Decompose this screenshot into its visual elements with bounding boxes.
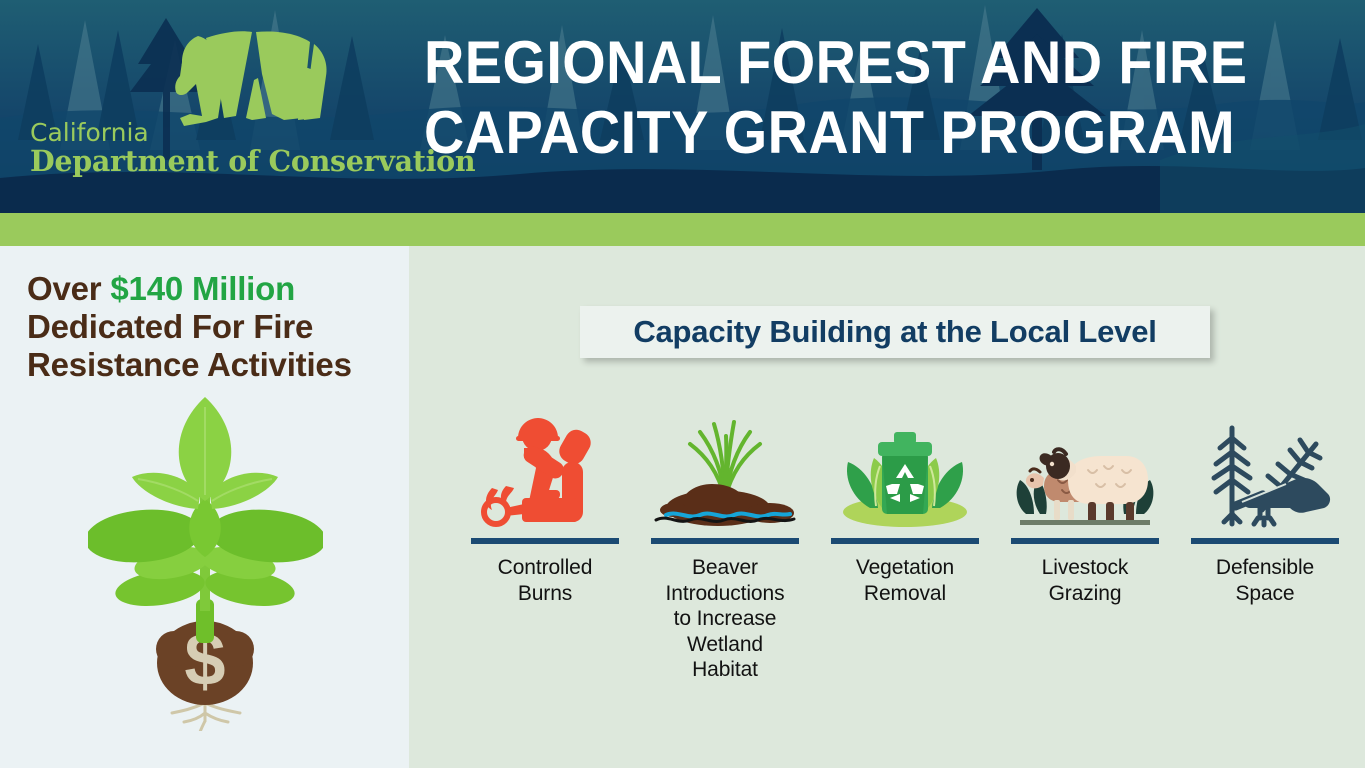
activity-label-line: Habitat	[666, 657, 785, 683]
activity-label-line: Burns	[498, 581, 593, 607]
activity-label-line: Beaver	[666, 555, 785, 581]
activity-card-livestock-grazing: Livestock Grazing	[995, 414, 1175, 606]
logo-department-label: Department of Conservation	[30, 145, 380, 178]
activity-rule	[1191, 538, 1339, 544]
funding-panel: Over $140 Million Dedicated For Fire Res…	[0, 246, 409, 768]
header-banner: California Department of Conservation RE…	[0, 0, 1365, 213]
activities-panel: Capacity Building at the Local Level	[409, 246, 1365, 768]
activity-label-line: to Increase	[666, 606, 785, 632]
funding-headline-line-3: Resistance Activities	[27, 346, 397, 384]
defensible-space-icon	[1190, 414, 1340, 532]
funding-amount: $140 Million	[110, 270, 295, 307]
activity-label: Controlled Burns	[498, 555, 593, 606]
funding-headline-line-2: Dedicated For Fire	[27, 308, 397, 346]
activity-label: Vegetation Removal	[856, 555, 954, 606]
section-banner: Capacity Building at the Local Level	[580, 306, 1210, 358]
activity-label-line: Vegetation	[856, 555, 954, 581]
controlled-burn-icon	[470, 414, 620, 532]
page-title-line-2: CAPACITY GRANT PROGRAM	[424, 98, 1242, 168]
activity-label-line: Wetland	[666, 632, 785, 658]
activity-card-beaver-introductions: Beaver Introductions to Increase Wetland…	[635, 414, 815, 683]
activity-rule	[831, 538, 979, 544]
activity-card-vegetation-removal: Vegetation Removal	[815, 414, 995, 606]
activity-label-line: Grazing	[1042, 581, 1129, 607]
activity-rule	[471, 538, 619, 544]
livestock-grazing-icon	[1010, 414, 1160, 532]
logo-state-label: California	[30, 120, 380, 145]
funding-headline-prefix: Over	[27, 270, 110, 307]
activity-label-line: Space	[1216, 581, 1314, 607]
activity-label-line: Defensible	[1216, 555, 1314, 581]
activity-label-line: Livestock	[1042, 555, 1129, 581]
activity-label: Defensible Space	[1216, 555, 1314, 606]
vegetation-removal-icon	[830, 414, 980, 532]
green-divider-bar	[0, 213, 1365, 246]
infographic-page: California Department of Conservation RE…	[0, 0, 1365, 768]
activity-card-controlled-burns: Controlled Burns	[455, 414, 635, 606]
page-title-line-1: REGIONAL FOREST AND FIRE	[424, 28, 1242, 98]
money-plant-icon: $	[88, 391, 323, 731]
activity-card-defensible-space: Defensible Space	[1175, 414, 1355, 606]
agency-logo: California Department of Conservation	[18, 10, 378, 200]
activity-rule	[1011, 538, 1159, 544]
activity-label-line: Controlled	[498, 555, 593, 581]
activity-label-line: Removal	[856, 581, 954, 607]
section-banner-title: Capacity Building at the Local Level	[633, 314, 1156, 350]
beaver-lodge-icon	[650, 414, 800, 532]
activity-label: Beaver Introductions to Increase Wetland…	[666, 555, 785, 683]
activity-rule	[651, 538, 799, 544]
activity-label: Livestock Grazing	[1042, 555, 1129, 606]
activity-label-line: Introductions	[666, 581, 785, 607]
funding-headline-line-1: Over $140 Million	[27, 270, 397, 308]
activities-row: Controlled Burns	[455, 414, 1355, 714]
funding-headline: Over $140 Million Dedicated For Fire Res…	[27, 270, 397, 384]
page-title: REGIONAL FOREST AND FIRE CAPACITY GRANT …	[424, 28, 1242, 168]
